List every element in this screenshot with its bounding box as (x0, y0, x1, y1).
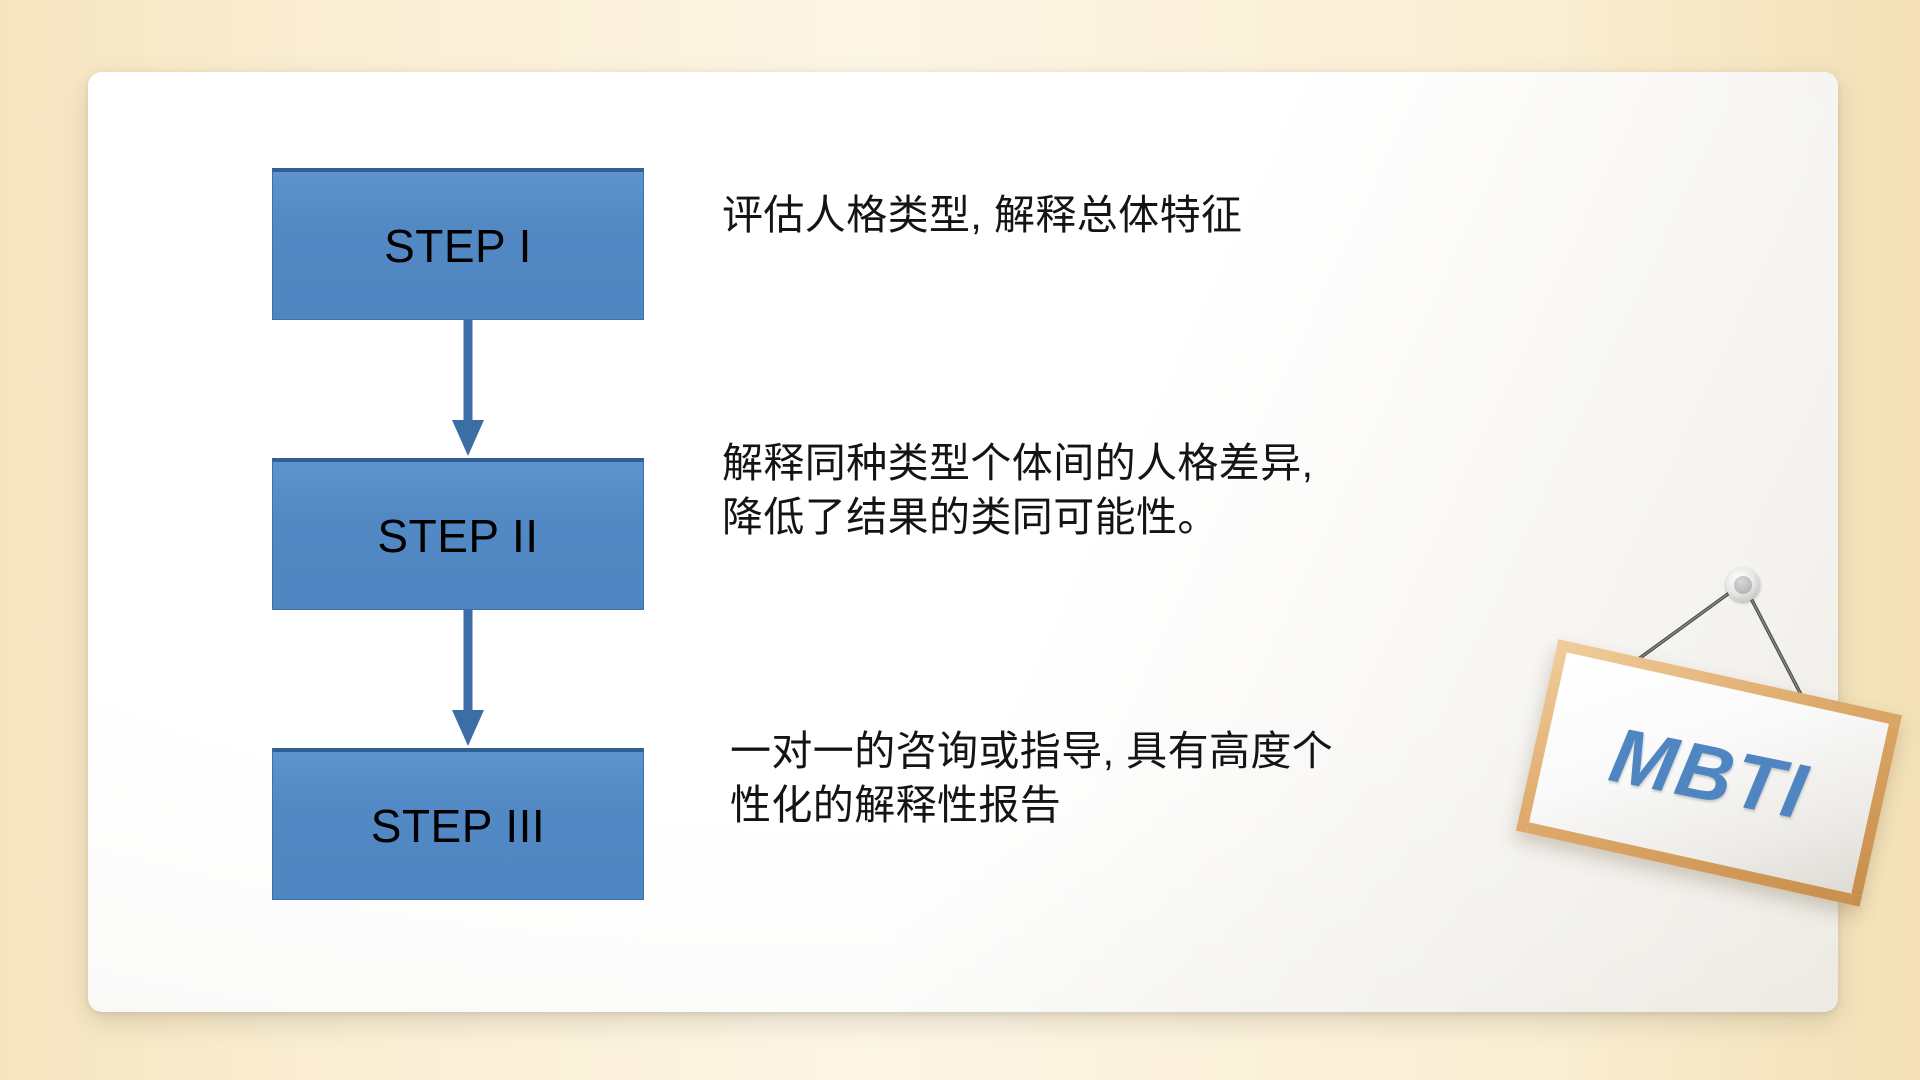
step-box-1[interactable]: STEP I (272, 168, 644, 320)
step-description-3: 一对一的咨询或指导, 具有高度个 性化的解释性报告 (730, 724, 1333, 832)
step-row-3: STEP III 一对一的咨询或指导, 具有高度个 性化的解释性报告 (272, 748, 1333, 900)
slide-canvas: STEP I 评估人格类型, 解释总体特征 STEP II 解释同种类型个体间的… (0, 0, 1920, 1080)
arrow-down-icon-2 (448, 610, 488, 748)
step-row-2: STEP II 解释同种类型个体间的人格差异, 降低了结果的类同可能性。 (272, 458, 1313, 610)
step-description-2: 解释同种类型个体间的人格差异, 降低了结果的类同可能性。 (722, 436, 1313, 544)
step-row-1: STEP I 评估人格类型, 解释总体特征 (272, 168, 1242, 320)
step-description-1: 评估人格类型, 解释总体特征 (722, 188, 1242, 242)
step-box-2[interactable]: STEP II (272, 458, 644, 610)
arrow-down-icon-1 (448, 320, 488, 458)
step-box-3[interactable]: STEP III (272, 748, 644, 900)
